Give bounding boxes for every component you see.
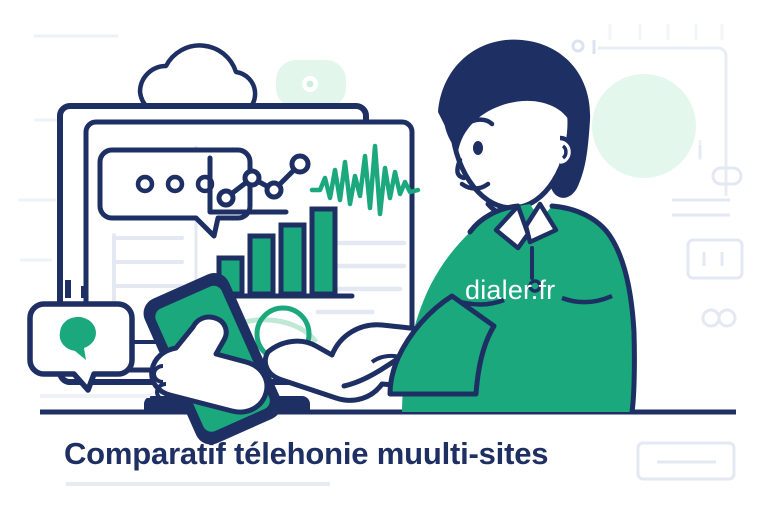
bottom-right-card bbox=[638, 443, 734, 479]
page-title: Comparatif télehonie muulti-sites bbox=[64, 436, 548, 472]
bar-3 bbox=[281, 225, 304, 294]
bar-4 bbox=[312, 209, 335, 294]
microphone-badge-bg bbox=[592, 74, 696, 178]
brand-shirt-text: dialer.fr bbox=[465, 275, 555, 306]
bar-2 bbox=[250, 236, 273, 294]
record-dot-center bbox=[307, 81, 314, 88]
